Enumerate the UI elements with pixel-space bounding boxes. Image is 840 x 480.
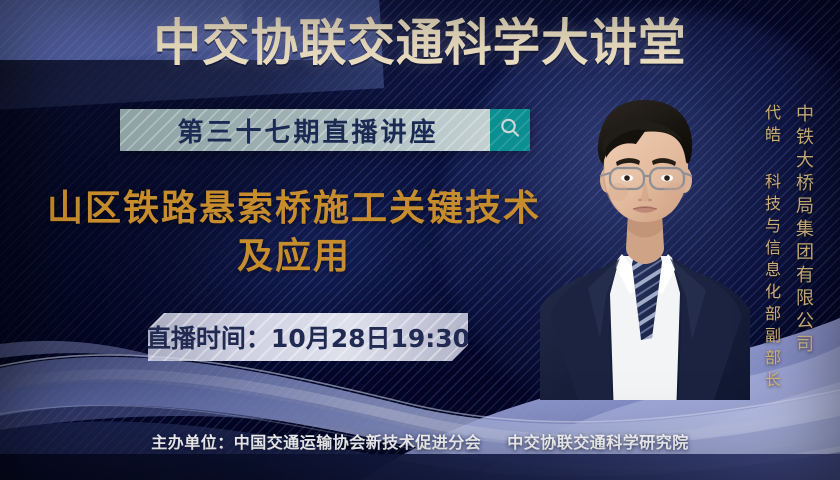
episode-bar: 第三十七期直播讲座 [120,109,530,151]
bottom-bar [0,454,840,480]
organizer-prefix: 主办单位： [151,433,234,452]
search-icon [498,116,522,145]
episode-label-area: 第三十七期直播讲座 [120,109,490,151]
schedule-badge: 直播时间：10月28日19:30 [148,313,468,361]
search-button[interactable] [490,109,530,151]
lecture-title-line1: 山区铁路悬索桥施工关键技术 [47,188,541,229]
organizer-line: 主办单位：中国交通运输协会新技术促进分会中交协联交通科学研究院 [0,429,840,453]
speaker-portrait [540,88,750,418]
webinar-poster: 中交协联交通科学大讲堂 第三十七期直播讲座 山区铁路悬索桥施工关键技术 及应用 … [0,0,840,480]
episode-label: 第三十七期直播讲座 [171,112,438,149]
organizer-name-1: 中国交通运输协会新技术促进分会 [234,433,482,452]
lecture-title: 山区铁路悬索桥施工关键技术 及应用 [34,185,554,281]
lecture-title-line2: 及应用 [34,233,554,281]
speaker-name-role: 代皓 科技与信息化部副部长 [760,104,782,393]
speaker-organization: 中铁大桥局集团有限公司 [792,104,814,357]
page-title: 中交协联交通科学大讲堂 [21,14,819,72]
organizer-name-2: 中交协联交通科学研究院 [507,433,689,452]
schedule-text: 直播时间：10月28日19:30 [148,319,468,355]
speaker-info: 代皓 科技与信息化部副部长 中铁大桥局集团有限公司 [760,104,814,393]
